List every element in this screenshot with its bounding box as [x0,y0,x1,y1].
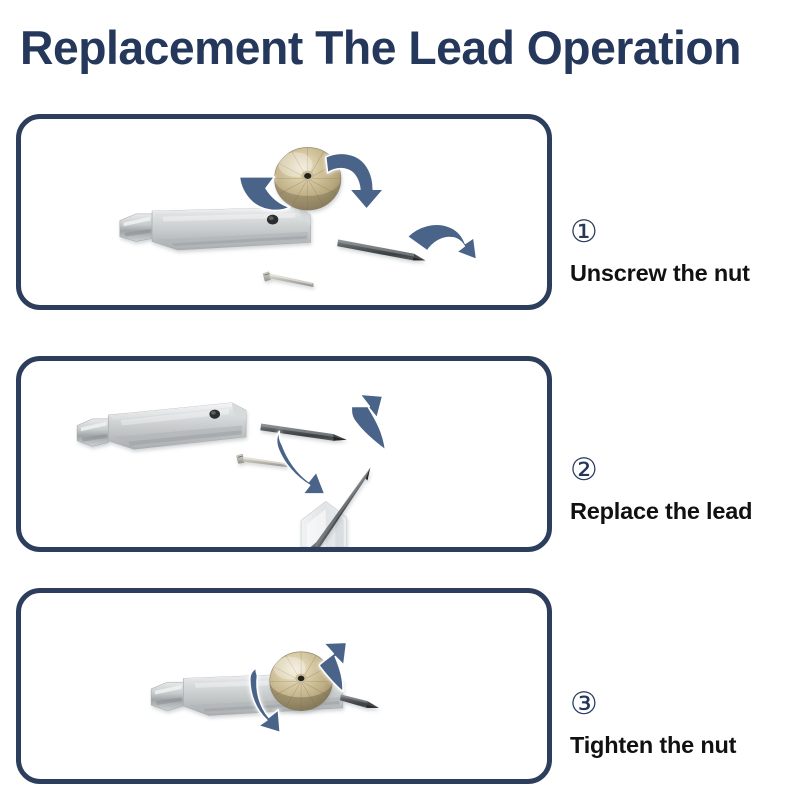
step-label-3: Tighten the nut [570,731,798,759]
knurled-nut [270,652,333,711]
step-number-3: ③ [570,686,798,722]
panel-tighten-the-nut [16,588,552,784]
assembled-scribe-tool [151,673,379,716]
arrow-remove-lead [407,224,476,259]
old-carbide-lead [260,424,346,441]
illustration-step-3 [21,593,547,779]
arrow-remove-lead [351,394,385,450]
step-number-2: ② [570,452,798,488]
step-1: ① Unscrew the nut [570,214,798,287]
page-title: Replacement The Lead Operation [20,22,780,74]
step-number-1: ① [570,214,798,250]
set-screw [237,454,288,467]
scribe-tool-body [120,207,311,250]
illustration-step-2 [21,361,547,547]
illustration-step-1 [21,119,547,305]
step-2: ② Replace the lead [570,452,798,525]
step-label-2: Replace the lead [570,497,798,525]
set-screw [263,272,313,287]
scribe-tool-body [77,403,246,450]
step-3: ③ Tighten the nut [570,686,798,759]
arrow-insert-lead [277,431,325,494]
panel-unscrew-the-nut [16,114,552,310]
carbide-lead [337,240,425,261]
panel-replace-the-lead [16,356,552,552]
step-label-1: Unscrew the nut [570,259,798,287]
